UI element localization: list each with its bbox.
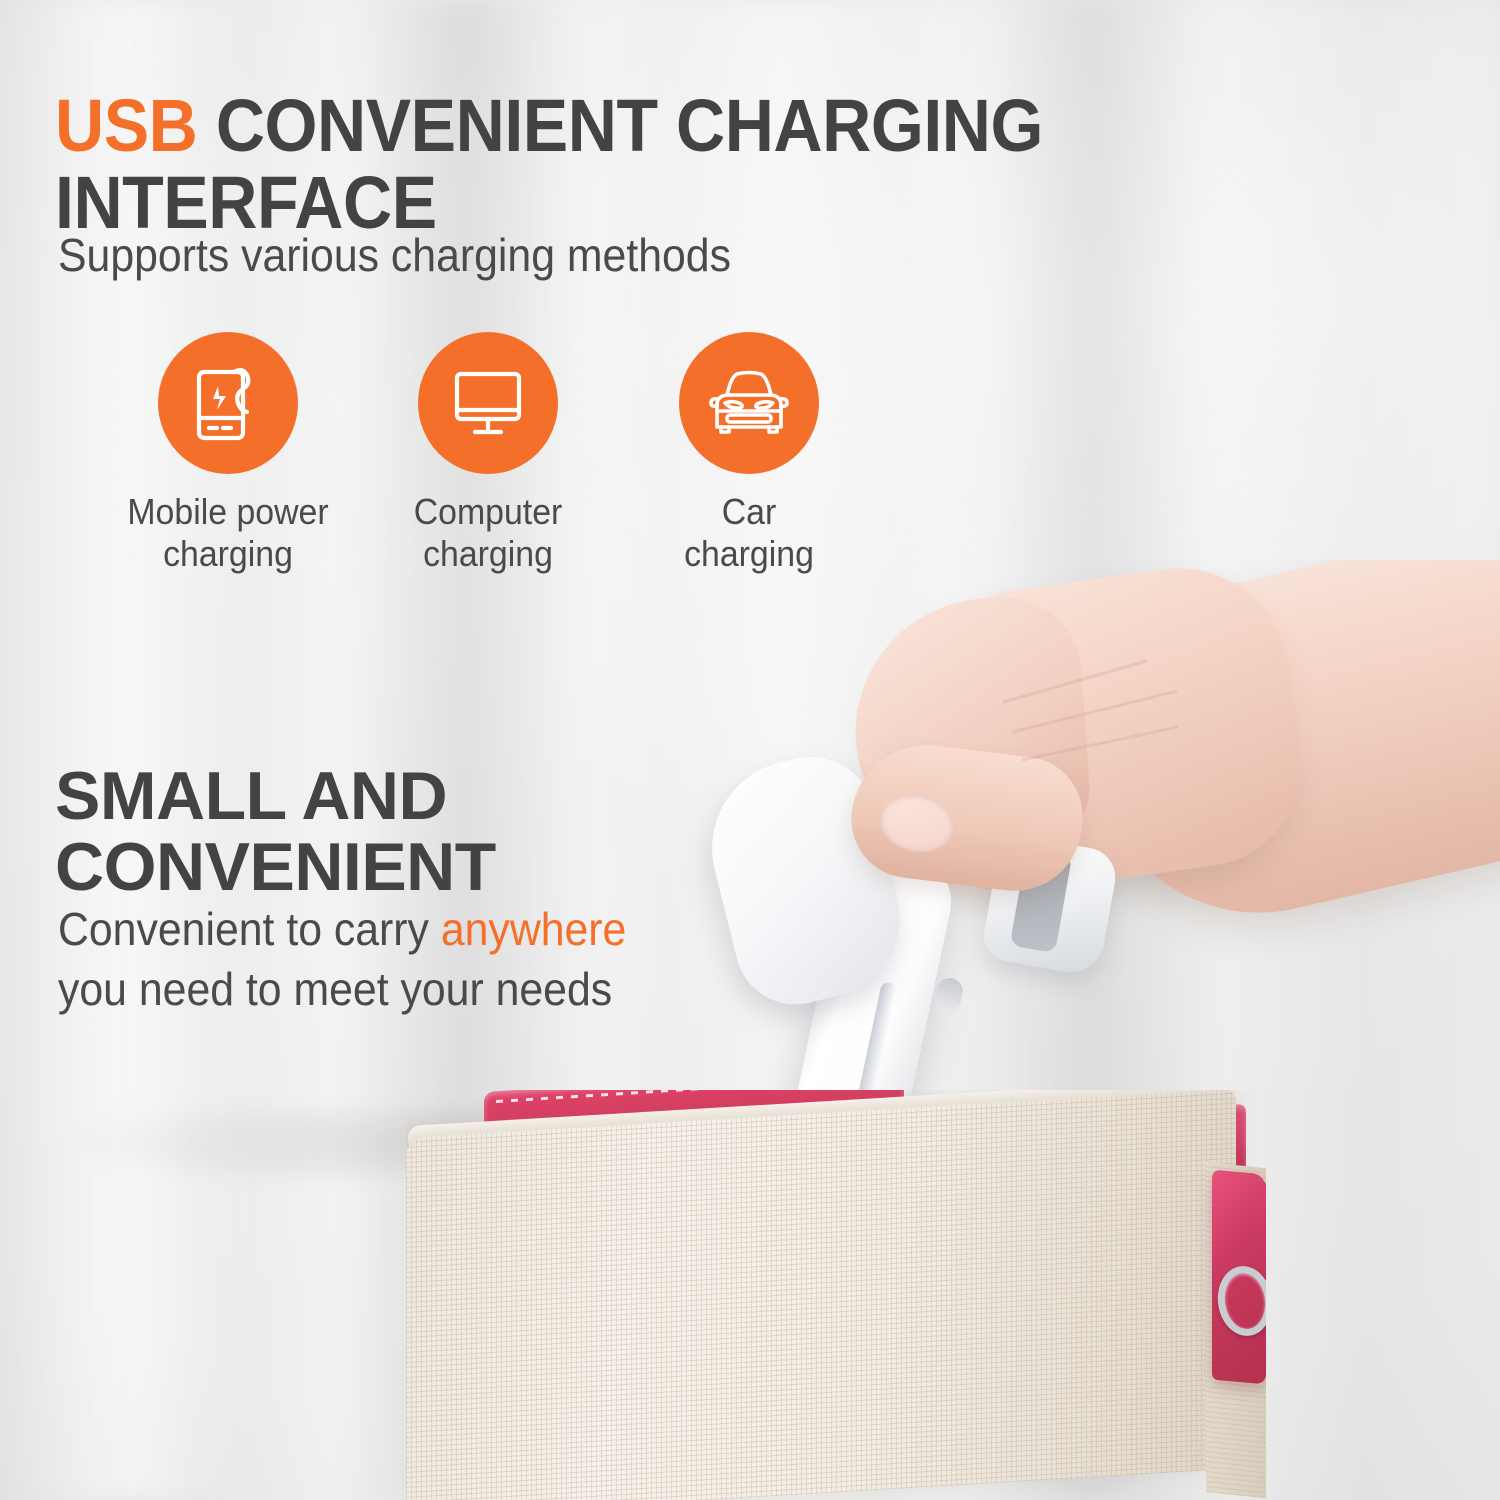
- bag-body: [406, 1090, 1236, 1500]
- feature-label: Car charging: [641, 491, 857, 576]
- body-text-after: you need to meet your needs: [58, 963, 612, 1015]
- product-photo: [0, 560, 1500, 1500]
- body-text-carry: Convenient to carry anywhere you need to…: [58, 900, 626, 1020]
- canvas-bag: [406, 1090, 1266, 1500]
- fan-hinge-notch: [933, 976, 966, 1015]
- subtitle-charging: Supports various charging methods: [58, 228, 731, 282]
- body-text-accent: anywhere: [441, 903, 626, 955]
- feature-mobile-power-charging: Mobile power charging: [113, 332, 343, 576]
- page-title-charging: USB CONVENIENT CHARGING INTERFACE: [55, 88, 1187, 242]
- body-text-before: Convenient to carry: [58, 903, 441, 955]
- page-title-accent: USB: [55, 84, 197, 167]
- feature-computer-charging: Computer charging: [373, 332, 603, 576]
- monitor-icon: [418, 332, 558, 474]
- feature-car-charging: Car charging: [634, 332, 864, 576]
- feature-label: Computer charging: [380, 491, 596, 576]
- page-title-rest: CONVENIENT CHARGING INTERFACE: [55, 84, 1043, 244]
- car-icon: [679, 332, 819, 474]
- charging-methods-row: Mobile power charging Computer charging: [58, 332, 818, 582]
- product-feature-page: USB CONVENIENT CHARGING INTERFACE Suppor…: [0, 0, 1500, 1500]
- feature-label: Mobile power charging: [120, 491, 336, 576]
- power-bank-icon: [158, 332, 298, 474]
- page-title-small-convenient: SMALL AND CONVENIENT: [55, 761, 755, 902]
